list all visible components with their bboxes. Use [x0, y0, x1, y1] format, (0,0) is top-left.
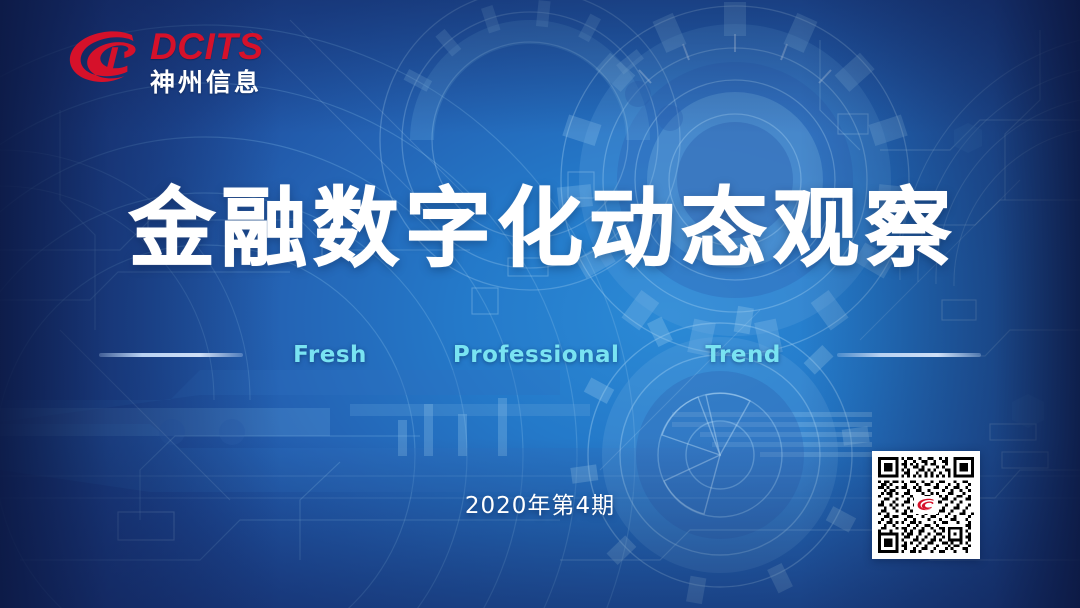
qr-center-logo: [914, 496, 938, 514]
subtitle-keyword-trend: Trend: [705, 342, 780, 368]
brand-logo-text: DCITS 神州信息: [150, 26, 264, 95]
page-title: 金融数字化动态观察: [0, 186, 1080, 272]
subtitle-keyword-fresh: Fresh: [293, 342, 367, 368]
poster-canvas: DCITS 神州信息 金融数字化动态观察 Fresh Professional …: [0, 0, 1080, 608]
brand-logo: DCITS 神州信息: [64, 26, 264, 95]
subtitle-rule-right: [837, 353, 981, 357]
brand-name-en: DCITS: [150, 28, 264, 65]
brand-name-cn: 神州信息: [150, 70, 264, 95]
wechat-qr-code[interactable]: [872, 451, 980, 559]
subtitle-rule-left: [99, 353, 243, 357]
dcits-swoosh-icon: [64, 29, 142, 93]
subtitle-keyword-professional: Professional: [453, 342, 619, 368]
subtitle-row: Fresh Professional Trend: [0, 337, 1080, 373]
